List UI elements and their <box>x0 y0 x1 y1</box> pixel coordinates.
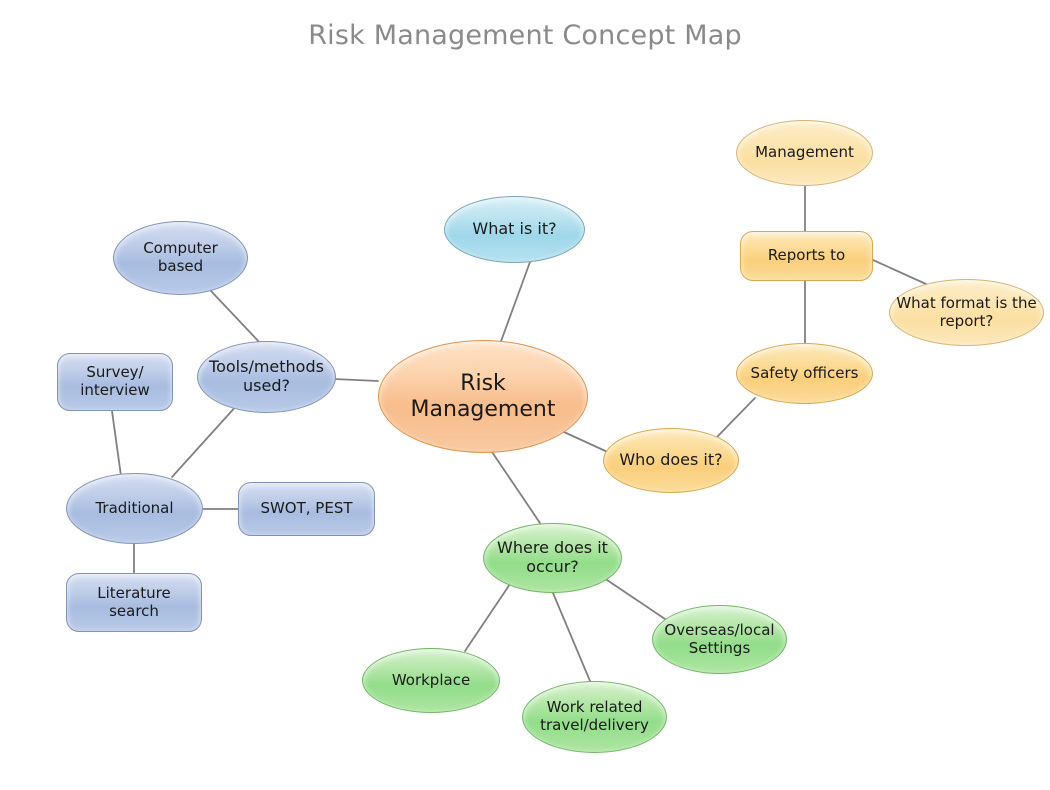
edge-center-to-tools <box>334 379 378 381</box>
node-label: Risk Management <box>385 371 581 423</box>
node-label: Who does it? <box>619 451 722 470</box>
node-label: What format is the report? <box>896 295 1037 330</box>
node-label: Tools/methods used? <box>204 358 329 396</box>
node-label: Literature search <box>73 585 195 620</box>
edge-safety-to-who_does_it <box>716 398 755 438</box>
node-workplace[interactable]: Workplace <box>362 648 500 713</box>
edge-traditional-to-survey <box>112 411 121 476</box>
node-label: Safety officers <box>751 365 859 383</box>
node-label: Computer based <box>120 240 241 275</box>
edge-tools-to-traditional <box>172 404 238 477</box>
node-label: Reports to <box>768 247 845 265</box>
node-label: SWOT, PEST <box>260 500 352 518</box>
node-what_is_it[interactable]: What is it? <box>444 196 585 263</box>
node-literature[interactable]: Literature search <box>66 573 202 632</box>
node-safety[interactable]: Safety officers <box>736 343 873 404</box>
node-label: Where does it occur? <box>490 539 615 577</box>
node-what_format[interactable]: What format is the report? <box>889 279 1044 346</box>
edge-tools-to-computer <box>211 291 262 345</box>
node-traditional[interactable]: Traditional <box>66 473 203 544</box>
concept-map-canvas: Risk Management Concept Map Risk Managem… <box>0 0 1050 790</box>
node-reports_to[interactable]: Reports to <box>740 231 873 281</box>
node-center[interactable]: Risk Management <box>378 340 588 453</box>
node-swot[interactable]: SWOT, PEST <box>238 482 375 536</box>
node-who_does_it[interactable]: Who does it? <box>603 428 739 493</box>
node-management[interactable]: Management <box>736 120 873 186</box>
node-tools[interactable]: Tools/methods used? <box>197 341 336 413</box>
page-title: Risk Management Concept Map <box>0 20 1050 51</box>
node-label: Survey/ interview <box>64 364 166 399</box>
node-label: Workplace <box>392 672 470 690</box>
node-work_travel[interactable]: Work related travel/delivery <box>522 681 667 753</box>
edge-where_occur-to-overseas <box>604 578 665 619</box>
node-computer[interactable]: Computer based <box>113 221 248 295</box>
edge-center-to-what_is_it <box>500 262 530 344</box>
node-label: Overseas/local Settings <box>659 622 780 657</box>
node-label: Management <box>755 144 854 162</box>
edge-where_occur-to-work_travel <box>553 593 590 681</box>
node-survey[interactable]: Survey/ interview <box>57 353 173 411</box>
edge-reports_to-to-what_format <box>873 260 926 284</box>
node-label: Traditional <box>95 500 173 518</box>
edge-center-to-where_occur <box>492 452 540 523</box>
node-where_occur[interactable]: Where does it occur? <box>483 523 622 593</box>
node-label: What is it? <box>472 220 556 239</box>
node-overseas[interactable]: Overseas/local Settings <box>652 605 787 674</box>
edge-where_occur-to-workplace <box>465 581 512 651</box>
node-label: Work related travel/delivery <box>529 699 660 734</box>
